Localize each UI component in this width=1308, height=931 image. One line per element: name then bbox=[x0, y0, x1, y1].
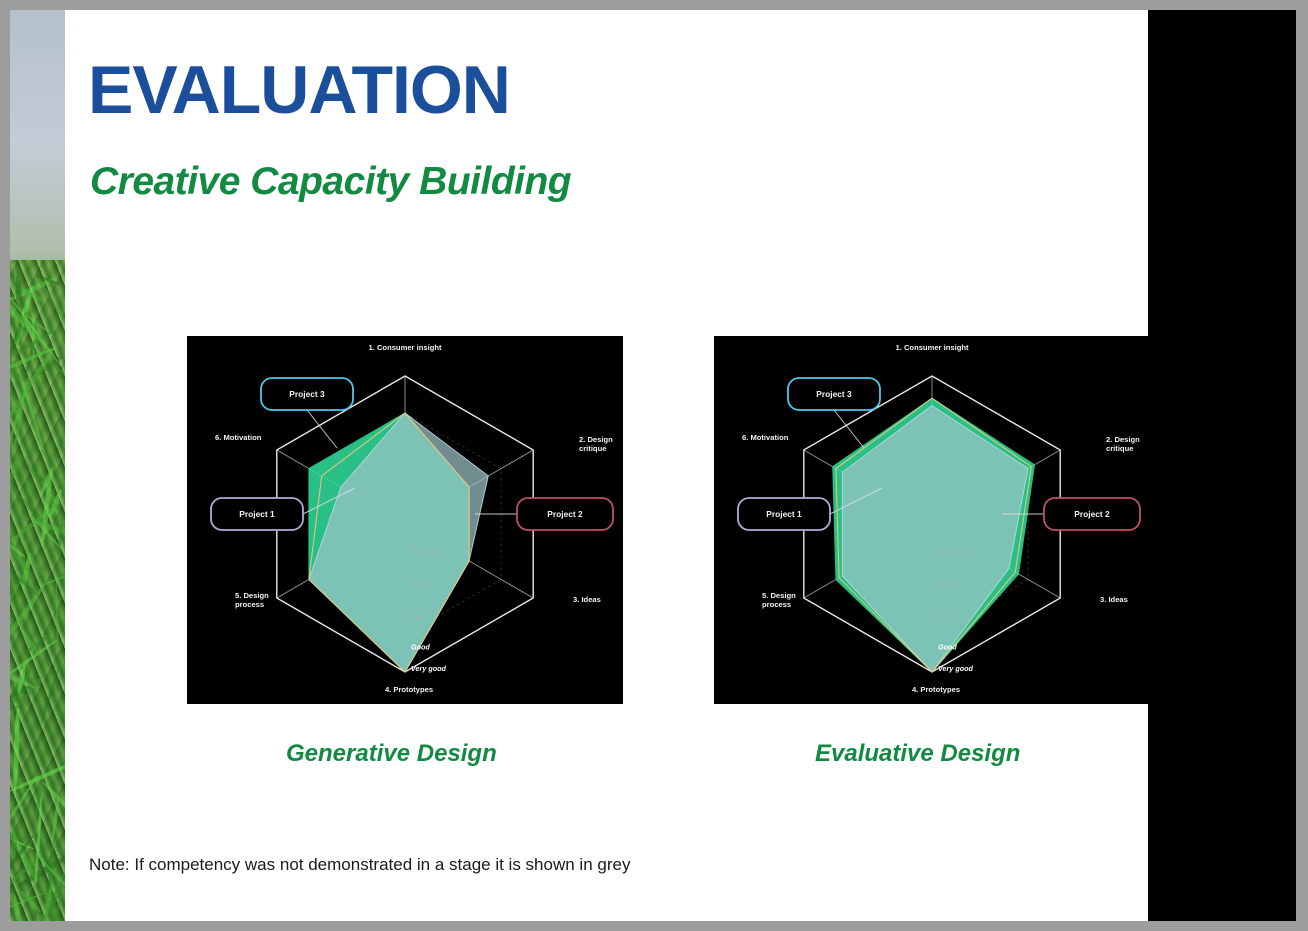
presentation-slide: EVALUATION Creative Capacity Building 1.… bbox=[10, 10, 1148, 921]
corn-blade bbox=[10, 455, 22, 480]
corn-blade bbox=[12, 822, 17, 859]
svg-text:Project 3: Project 3 bbox=[816, 389, 852, 399]
radar-svg-right: 1. Consumer insight2. Designcritique3. I… bbox=[714, 336, 1150, 704]
svg-text:Not done: Not done bbox=[411, 549, 440, 556]
corn-blade bbox=[41, 780, 65, 822]
corn-blade bbox=[40, 660, 62, 726]
svg-text:Project 3: Project 3 bbox=[289, 389, 325, 399]
svg-text:Fair: Fair bbox=[938, 614, 951, 621]
svg-text:Good: Good bbox=[938, 643, 957, 652]
svg-text:Project 2: Project 2 bbox=[547, 509, 583, 519]
svg-text:4. Prototypes: 4. Prototypes bbox=[385, 685, 433, 694]
radar-chart-evaluative[interactable]: 1. Consumer insight2. Designcritique3. I… bbox=[714, 336, 1150, 704]
svg-text:Not done: Not done bbox=[938, 549, 967, 556]
page-subtitle: Creative Capacity Building bbox=[90, 162, 571, 201]
caption-evaluative-design: Evaluative Design bbox=[815, 740, 1020, 768]
page-title: EVALUATION bbox=[88, 56, 510, 124]
svg-text:1. Consumer insight: 1. Consumer insight bbox=[896, 343, 969, 352]
caption-generative-design: Generative Design bbox=[286, 740, 497, 768]
slide-canvas: EVALUATION Creative Capacity Building 1.… bbox=[0, 0, 1308, 931]
svg-text:4. Prototypes: 4. Prototypes bbox=[912, 685, 960, 694]
svg-text:6. Motivation: 6. Motivation bbox=[742, 433, 789, 442]
svg-text:3. Ideas: 3. Ideas bbox=[1100, 595, 1128, 604]
svg-text:Poor: Poor bbox=[938, 581, 953, 588]
svg-text:Project 1: Project 1 bbox=[766, 509, 802, 519]
svg-text:Very good: Very good bbox=[411, 664, 446, 673]
corn-blade bbox=[12, 703, 20, 795]
corn-leaves-region bbox=[10, 260, 65, 921]
black-background-bleed bbox=[1148, 10, 1296, 921]
svg-text:Project 2: Project 2 bbox=[1074, 509, 1110, 519]
svg-text:Good: Good bbox=[411, 643, 430, 652]
radar-svg-left: 1. Consumer insight2. Designcritique3. I… bbox=[187, 336, 623, 704]
svg-text:5. Designprocess: 5. Designprocess bbox=[762, 591, 796, 609]
svg-text:Poor: Poor bbox=[411, 581, 426, 588]
svg-text:Very good: Very good bbox=[938, 664, 973, 673]
svg-text:Project 1: Project 1 bbox=[239, 509, 275, 519]
radar-chart-generative[interactable]: 1. Consumer insight2. Designcritique3. I… bbox=[187, 336, 623, 704]
svg-text:Fair: Fair bbox=[411, 614, 424, 621]
corn-field-photo-strip bbox=[10, 10, 65, 921]
note-text: Note: If competency was not demonstrated… bbox=[89, 855, 630, 875]
svg-text:1. Consumer insight: 1. Consumer insight bbox=[369, 343, 442, 352]
svg-text:3. Ideas: 3. Ideas bbox=[573, 595, 601, 604]
corn-blade bbox=[55, 581, 59, 653]
svg-text:6. Motivation: 6. Motivation bbox=[215, 433, 262, 442]
svg-text:5. Designprocess: 5. Designprocess bbox=[235, 591, 269, 609]
